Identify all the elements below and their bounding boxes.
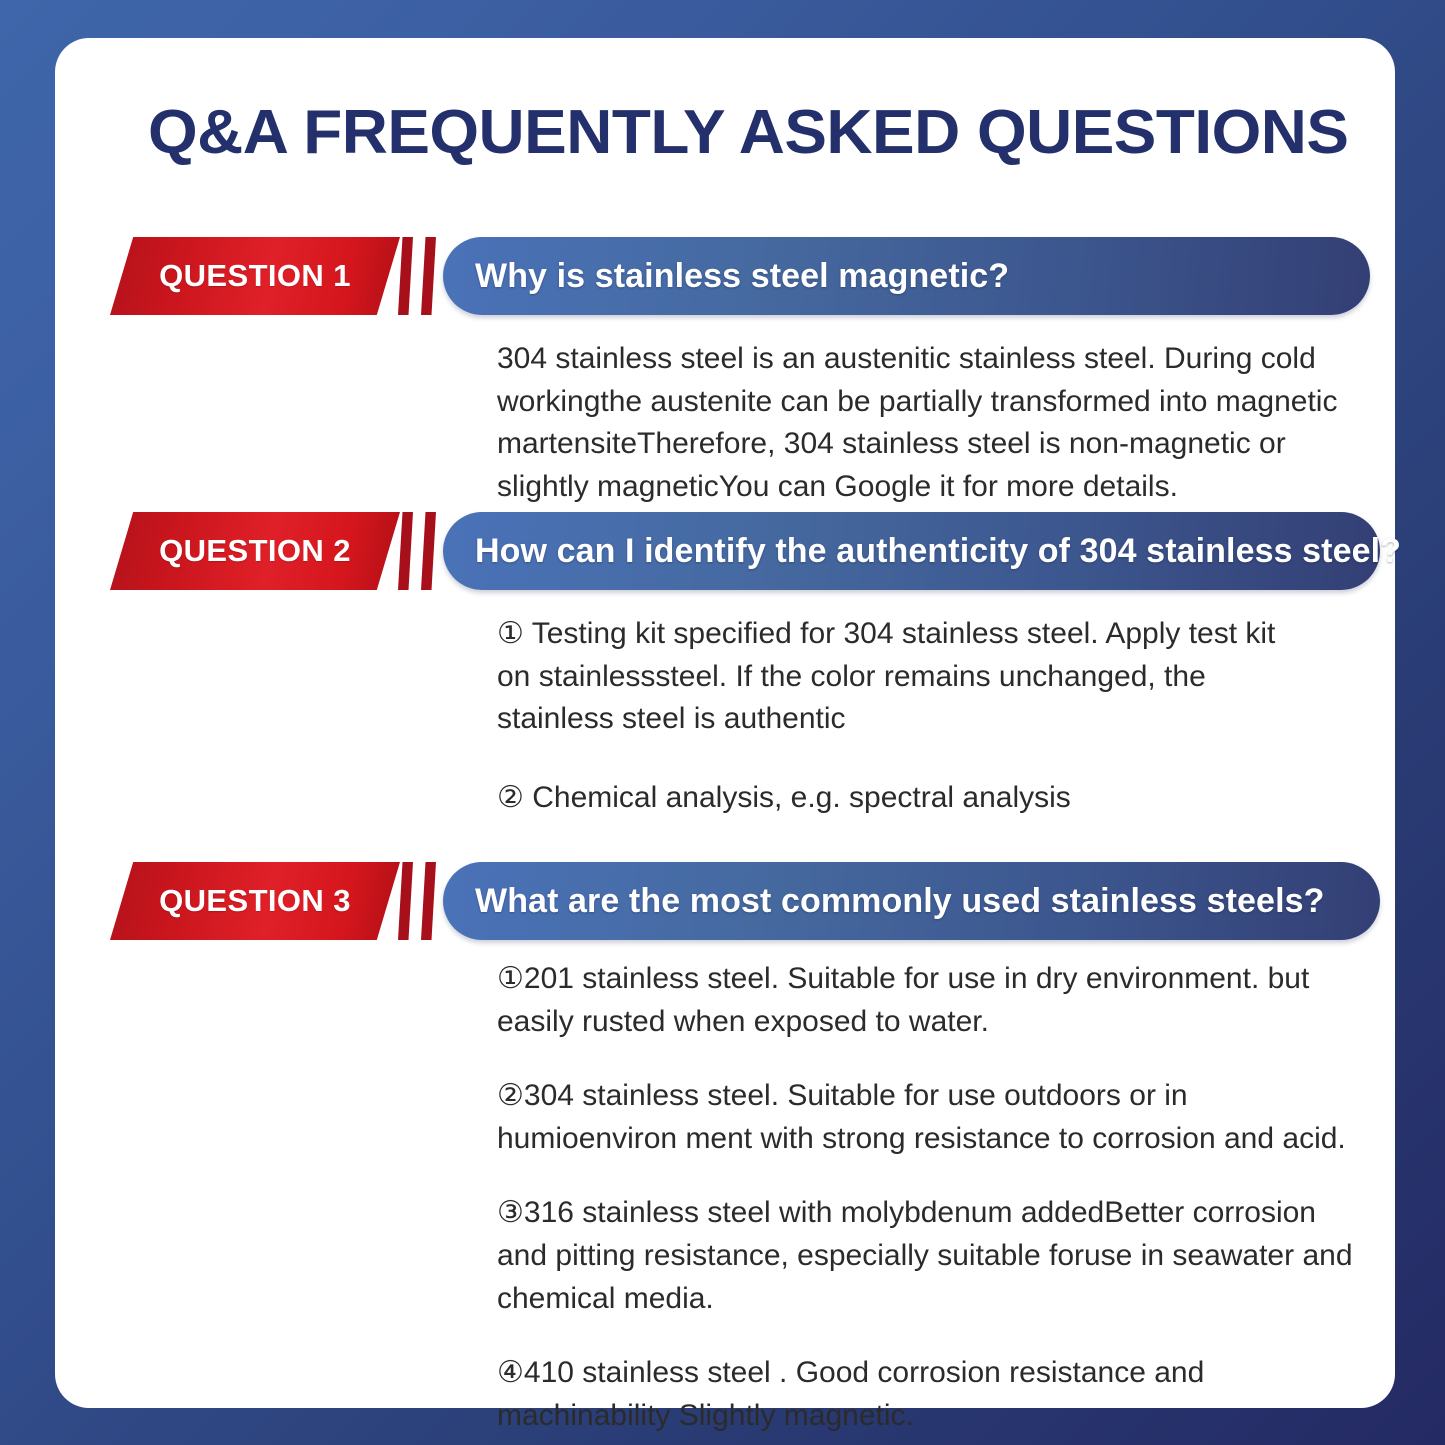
question-text: How can I identify the authenticity of 3…: [443, 532, 1431, 571]
question-pill-1[interactable]: Why is stainless steel magnetic?: [443, 237, 1370, 315]
faq-page: Q&A FREQUENTLY ASKED QUESTIONS QUESTION …: [0, 0, 1445, 1445]
answer-paragraph: ②304 stainless steel. Suitable for use o…: [497, 1075, 1372, 1160]
question-row-3: QUESTION 3 What are the most commonly us…: [0, 862, 1445, 948]
question-pill-3[interactable]: What are the most commonly used stainles…: [443, 862, 1380, 940]
question-row-1: QUESTION 1 Why is stainless steel magnet…: [0, 237, 1445, 323]
answer-paragraph: ② Chemical analysis, e.g. spectral analy…: [497, 777, 1297, 820]
answer-block-1: 304 stainless steel is an austenitic sta…: [497, 338, 1352, 508]
question-tag-label: QUESTION 2: [159, 533, 351, 569]
question-tag-1[interactable]: QUESTION 1: [110, 237, 400, 315]
question-tag-label: QUESTION 1: [159, 258, 351, 294]
page-title: Q&A FREQUENTLY ASKED QUESTIONS: [148, 102, 1343, 164]
question-row-2: QUESTION 2 How can I identify the authen…: [0, 512, 1445, 598]
question-tag-3[interactable]: QUESTION 3: [110, 862, 400, 940]
question-text: What are the most commonly used stainles…: [443, 882, 1355, 921]
slash-icon: [398, 512, 413, 590]
answer-paragraph: ① Testing kit specified for 304 stainles…: [497, 613, 1297, 741]
answer-paragraph: 304 stainless steel is an austenitic sta…: [497, 338, 1352, 508]
question-text: Why is stainless steel magnetic?: [443, 257, 1039, 296]
slash-icon: [421, 512, 436, 590]
slash-icon: [421, 862, 436, 940]
answer-block-2: ① Testing kit specified for 304 stainles…: [497, 613, 1297, 898]
answer-paragraph: ④410 stainless steel . Good corrosion re…: [497, 1352, 1372, 1437]
question-tag-label: QUESTION 3: [159, 883, 351, 919]
slash-icon: [398, 862, 413, 940]
answer-paragraph: ③316 stainless steel with molybdenum add…: [497, 1192, 1372, 1320]
answer-paragraph: ①201 stainless steel. Suitable for use i…: [497, 958, 1372, 1043]
question-tag-2[interactable]: QUESTION 2: [110, 512, 400, 590]
slash-icon: [421, 237, 436, 315]
slash-icon: [398, 237, 413, 315]
question-pill-2[interactable]: How can I identify the authenticity of 3…: [443, 512, 1380, 590]
answer-block-3: ①201 stainless steel. Suitable for use i…: [497, 958, 1372, 1437]
